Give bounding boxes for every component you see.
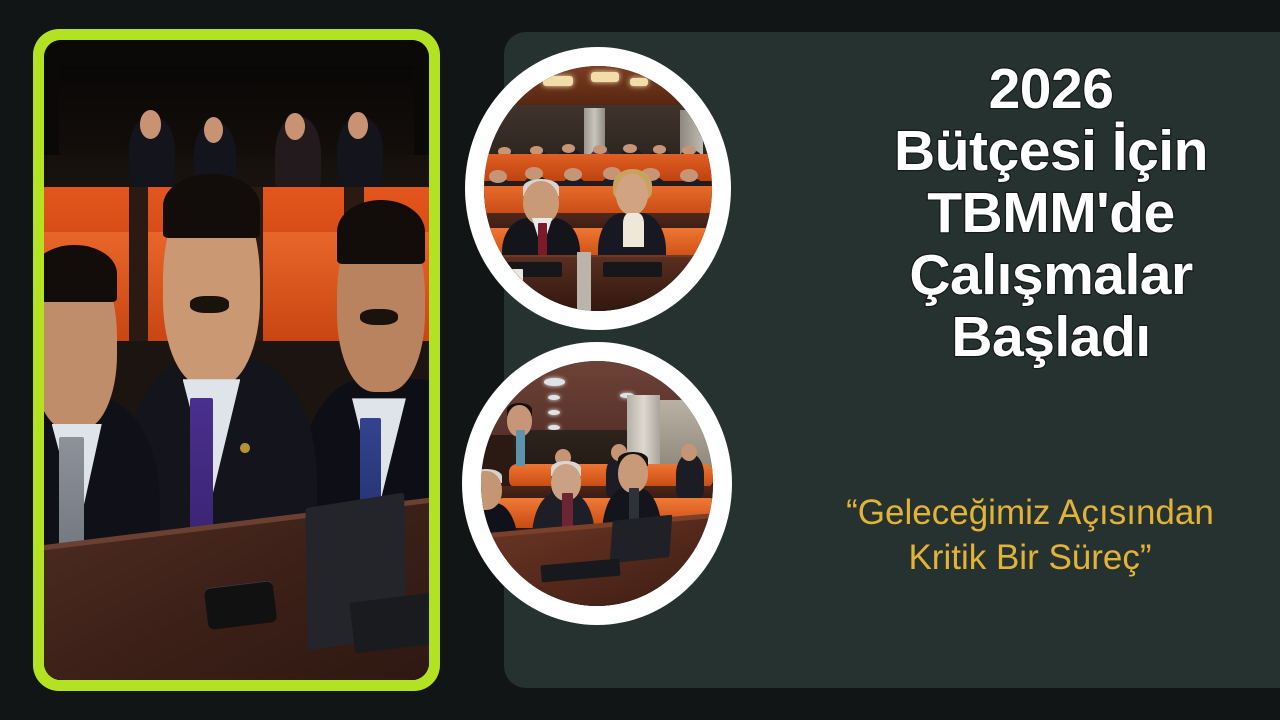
scene-background-head bbox=[204, 117, 223, 143]
scene-ceiling-light bbox=[548, 410, 560, 415]
scene-keyboard bbox=[349, 591, 429, 653]
circle-photo-assembly-wide bbox=[465, 47, 731, 330]
scene-papers bbox=[491, 269, 523, 281]
scene-person-shirt bbox=[623, 213, 644, 247]
scene-background-head bbox=[285, 113, 305, 141]
circle-photo-media bbox=[481, 361, 713, 606]
scene-person-hair bbox=[163, 174, 259, 238]
scene-background-head bbox=[593, 145, 607, 154]
scene-mobile-phone bbox=[203, 580, 277, 630]
scene-ceiling-light bbox=[544, 378, 565, 386]
photo-scene-assembly-hall bbox=[44, 40, 429, 680]
scene-desk-divider bbox=[577, 252, 591, 311]
scene-background-head bbox=[681, 444, 697, 461]
scene-background-head bbox=[653, 145, 667, 154]
circle-photo-media bbox=[484, 66, 712, 311]
subtitle-quote: “Geleceğimiz Açısından Kritik Bir Süreç” bbox=[790, 490, 1270, 580]
scene-lapel-pin bbox=[240, 443, 249, 453]
main-photo-frame bbox=[33, 29, 440, 691]
scene-person-tie bbox=[516, 430, 525, 467]
scene-ceiling-lamp bbox=[630, 78, 648, 85]
scene-monitor bbox=[610, 514, 673, 562]
main-photo-mps-at-desk bbox=[44, 40, 429, 680]
scene-background-head bbox=[623, 144, 637, 153]
scene-ceiling-lamp bbox=[591, 72, 618, 82]
scene-person-tie bbox=[538, 223, 547, 255]
scene-background-head bbox=[140, 110, 161, 138]
scene-person-hair bbox=[337, 200, 426, 264]
scene-seat-gap bbox=[129, 187, 148, 341]
scene-person-head bbox=[616, 174, 648, 216]
scene-person-moustache bbox=[190, 296, 229, 313]
scene-person-moustache bbox=[360, 309, 399, 326]
scene-microphone-console bbox=[603, 262, 662, 277]
circle-photo-deputies-seated bbox=[462, 342, 732, 625]
scene-person-head bbox=[618, 454, 648, 493]
scene-ceiling-lamp bbox=[543, 76, 573, 86]
page-title: 2026 Bütçesi İçin TBMM'de Çalışmalar Baş… bbox=[836, 58, 1266, 368]
scene-person-tie bbox=[562, 493, 572, 527]
news-graphic-canvas: 2026 Bütçesi İçin TBMM'de Çalışmalar Baş… bbox=[0, 0, 1280, 720]
